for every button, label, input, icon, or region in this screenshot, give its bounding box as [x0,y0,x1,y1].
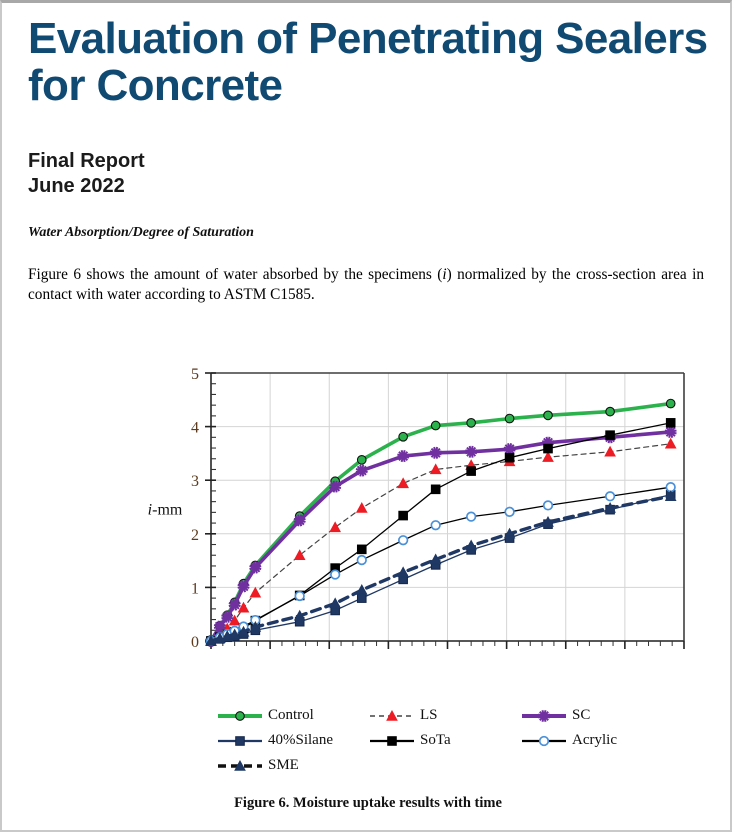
legend-label-sc: SC [572,707,590,724]
legend-label-sme: SME [268,757,299,774]
legend-item-sc[interactable]: SC [520,707,670,724]
legend-row: 40%SilaneSoTaAcrylic [216,728,716,753]
legend-item-ls[interactable]: LS [368,707,520,724]
legend-item-acrylic[interactable]: Acrylic [520,732,670,749]
legend-label-sota: SoTa [420,732,451,749]
y-tick-label: 3 [191,473,199,490]
y-tick-label: 5 [191,366,199,383]
page-title: Evaluation of Penetrating Sealers for Co… [28,15,718,109]
figure-caption: Figure 6. Moisture uptake results with t… [2,795,732,812]
section-heading: Water Absorption/Degree of Saturation [28,225,628,241]
legend-item-sme[interactable]: SME [216,757,368,774]
legend-item-control[interactable]: Control [216,707,368,724]
legend-item-silane[interactable]: 40%Silane [216,732,368,749]
legend-marker-silane-icon [216,733,264,749]
legend-row: ControlLSSC [216,703,716,728]
figure-6: 01234502004006008001000120014001600Time,… [2,355,732,825]
legend-item-sota[interactable]: SoTa [368,732,520,749]
legend-marker-sc-icon [520,708,568,724]
paragraph-text-1: Figure 6 shows the amount of water absor… [28,266,442,283]
y-tick-label: 2 [191,527,199,544]
y-tick-label: 4 [191,420,199,437]
y-tick-label: 0 [191,634,199,651]
chart-legend: ControlLSSC40%SilaneSoTaAcrylicSME [216,703,716,778]
report-date: June 2022 [28,174,628,199]
legend-marker-control-icon [216,708,264,724]
series-sme [206,491,676,645]
legend-row: SME [216,753,716,778]
legend-marker-sme-icon [216,758,264,774]
legend-label-acrylic: Acrylic [572,732,617,749]
report-subtitle: Final Report June 2022 [28,149,628,199]
legend-label-ls: LS [420,707,438,724]
y-tick-label: 1 [191,580,199,597]
moisture-uptake-chart: 01234502004006008001000120014001600Time,… [2,355,732,655]
document-page: Evaluation of Penetrating Sealers for Co… [0,0,732,832]
legend-marker-ls-icon [368,708,416,724]
chart-series-group [205,399,676,647]
body-paragraph: Figure 6 shows the amount of water absor… [28,265,704,305]
legend-label-control: Control [268,707,314,724]
report-type: Final Report [28,149,628,174]
legend-marker-sota-icon [368,733,416,749]
y-axis-title: i-mm [148,502,183,519]
legend-label-silane: 40%Silane [268,732,333,749]
legend-marker-acrylic-icon [520,733,568,749]
series-sc [205,426,676,647]
